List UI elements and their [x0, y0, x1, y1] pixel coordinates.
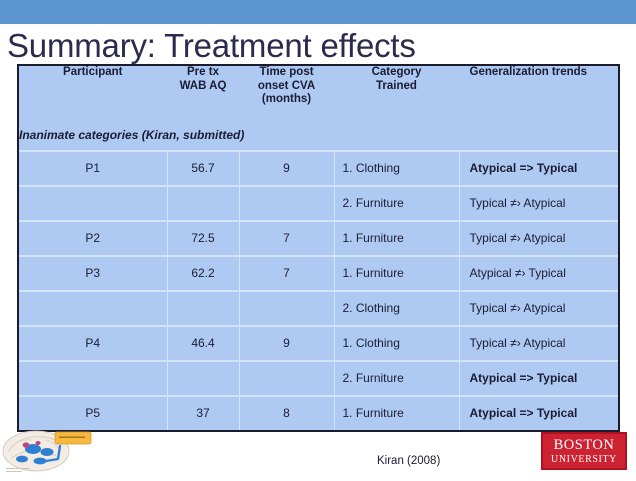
table-header-row: Participant Pre tx WAB AQ Time post onse… — [19, 66, 618, 128]
table-row: P53781. FurnitureAtypical => Typical — [19, 396, 618, 430]
table-row: P446.491. ClothingTypical ≠› Atypical — [19, 326, 618, 361]
cell-wab-aq — [167, 361, 239, 396]
cell-months-post-onset — [239, 361, 334, 396]
cell-months-post-onset — [239, 186, 334, 221]
cell-participant: P2 — [19, 221, 167, 256]
cell-category-trained: 1. Furniture — [334, 221, 459, 256]
cell-wab-aq: 37 — [167, 396, 239, 430]
table-row: P272.571. FurnitureTypical ≠› Atypical — [19, 221, 618, 256]
boston-university-logo: BOSTON UNIVERSITY — [541, 432, 627, 470]
column-header-generalization-trends: Generalization trends — [459, 66, 618, 128]
column-header-participant: Participant — [19, 66, 167, 128]
cell-generalization-trend: Typical ≠› Atypical — [459, 186, 618, 221]
cell-participant: P5 — [19, 396, 167, 430]
cell-wab-aq: 62.2 — [167, 256, 239, 291]
table-row: 2. FurnitureTypical ≠› Atypical — [19, 186, 618, 221]
top-banner — [0, 0, 636, 24]
cell-generalization-trend: Atypical => Typical — [459, 151, 618, 186]
cell-months-post-onset: 9 — [239, 151, 334, 186]
column-header-wab-aq: Pre tx WAB AQ — [167, 66, 239, 128]
logo-line-university: UNIVERSITY — [543, 455, 625, 465]
cell-participant: P3 — [19, 256, 167, 291]
cell-wab-aq — [167, 291, 239, 326]
cell-category-trained: 2. Clothing — [334, 291, 459, 326]
section-label: Inanimate categories (Kiran, submitted) — [19, 128, 618, 151]
cell-months-post-onset: 7 — [239, 256, 334, 291]
cell-generalization-trend: Typical ≠› Atypical — [459, 326, 618, 361]
cell-generalization-trend: Atypical => Typical — [459, 361, 618, 396]
cell-participant — [19, 186, 167, 221]
table-row: 2. FurnitureAtypical => Typical — [19, 361, 618, 396]
cell-category-trained: 2. Furniture — [334, 361, 459, 396]
table-section-row: Inanimate categories (Kiran, submitted) — [19, 128, 618, 151]
page-title: Summary: Treatment effects — [7, 27, 416, 65]
cell-participant — [19, 361, 167, 396]
cell-months-post-onset — [239, 291, 334, 326]
cell-wab-aq: 72.5 — [167, 221, 239, 256]
cell-wab-aq: 46.4 — [167, 326, 239, 361]
column-header-category-trained: Category Trained — [334, 66, 459, 128]
cell-participant — [19, 291, 167, 326]
cell-category-trained: 1. Clothing — [334, 151, 459, 186]
citation: Kiran (2008) — [377, 455, 440, 467]
brain-diagram-icon — [2, 428, 98, 476]
table-body: Inanimate categories (Kiran, submitted) … — [19, 128, 618, 430]
table-row: P362.271. FurnitureAtypical ≠› Typical — [19, 256, 618, 291]
table-row: P156.791. ClothingAtypical => Typical — [19, 151, 618, 186]
treatment-effects-table: Participant Pre tx WAB AQ Time post onse… — [17, 64, 620, 432]
cell-generalization-trend: Typical ≠› Atypical — [459, 291, 618, 326]
cell-generalization-trend: Typical ≠› Atypical — [459, 221, 618, 256]
logo-line-boston: BOSTON — [543, 438, 625, 453]
cell-generalization-trend: Atypical => Typical — [459, 396, 618, 430]
cell-category-trained: 1. Furniture — [334, 396, 459, 430]
cell-participant: P1 — [19, 151, 167, 186]
cell-category-trained: 2. Furniture — [334, 186, 459, 221]
column-header-time-post-onset: Time post onset CVA (months) — [239, 66, 334, 128]
cell-wab-aq — [167, 186, 239, 221]
cell-category-trained: 1. Furniture — [334, 256, 459, 291]
cell-months-post-onset: 9 — [239, 326, 334, 361]
cell-months-post-onset: 8 — [239, 396, 334, 430]
cell-category-trained: 1. Clothing — [334, 326, 459, 361]
cell-wab-aq: 56.7 — [167, 151, 239, 186]
table-row: 2. ClothingTypical ≠› Atypical — [19, 291, 618, 326]
cell-participant: P4 — [19, 326, 167, 361]
cell-generalization-trend: Atypical ≠› Typical — [459, 256, 618, 291]
cell-months-post-onset: 7 — [239, 221, 334, 256]
